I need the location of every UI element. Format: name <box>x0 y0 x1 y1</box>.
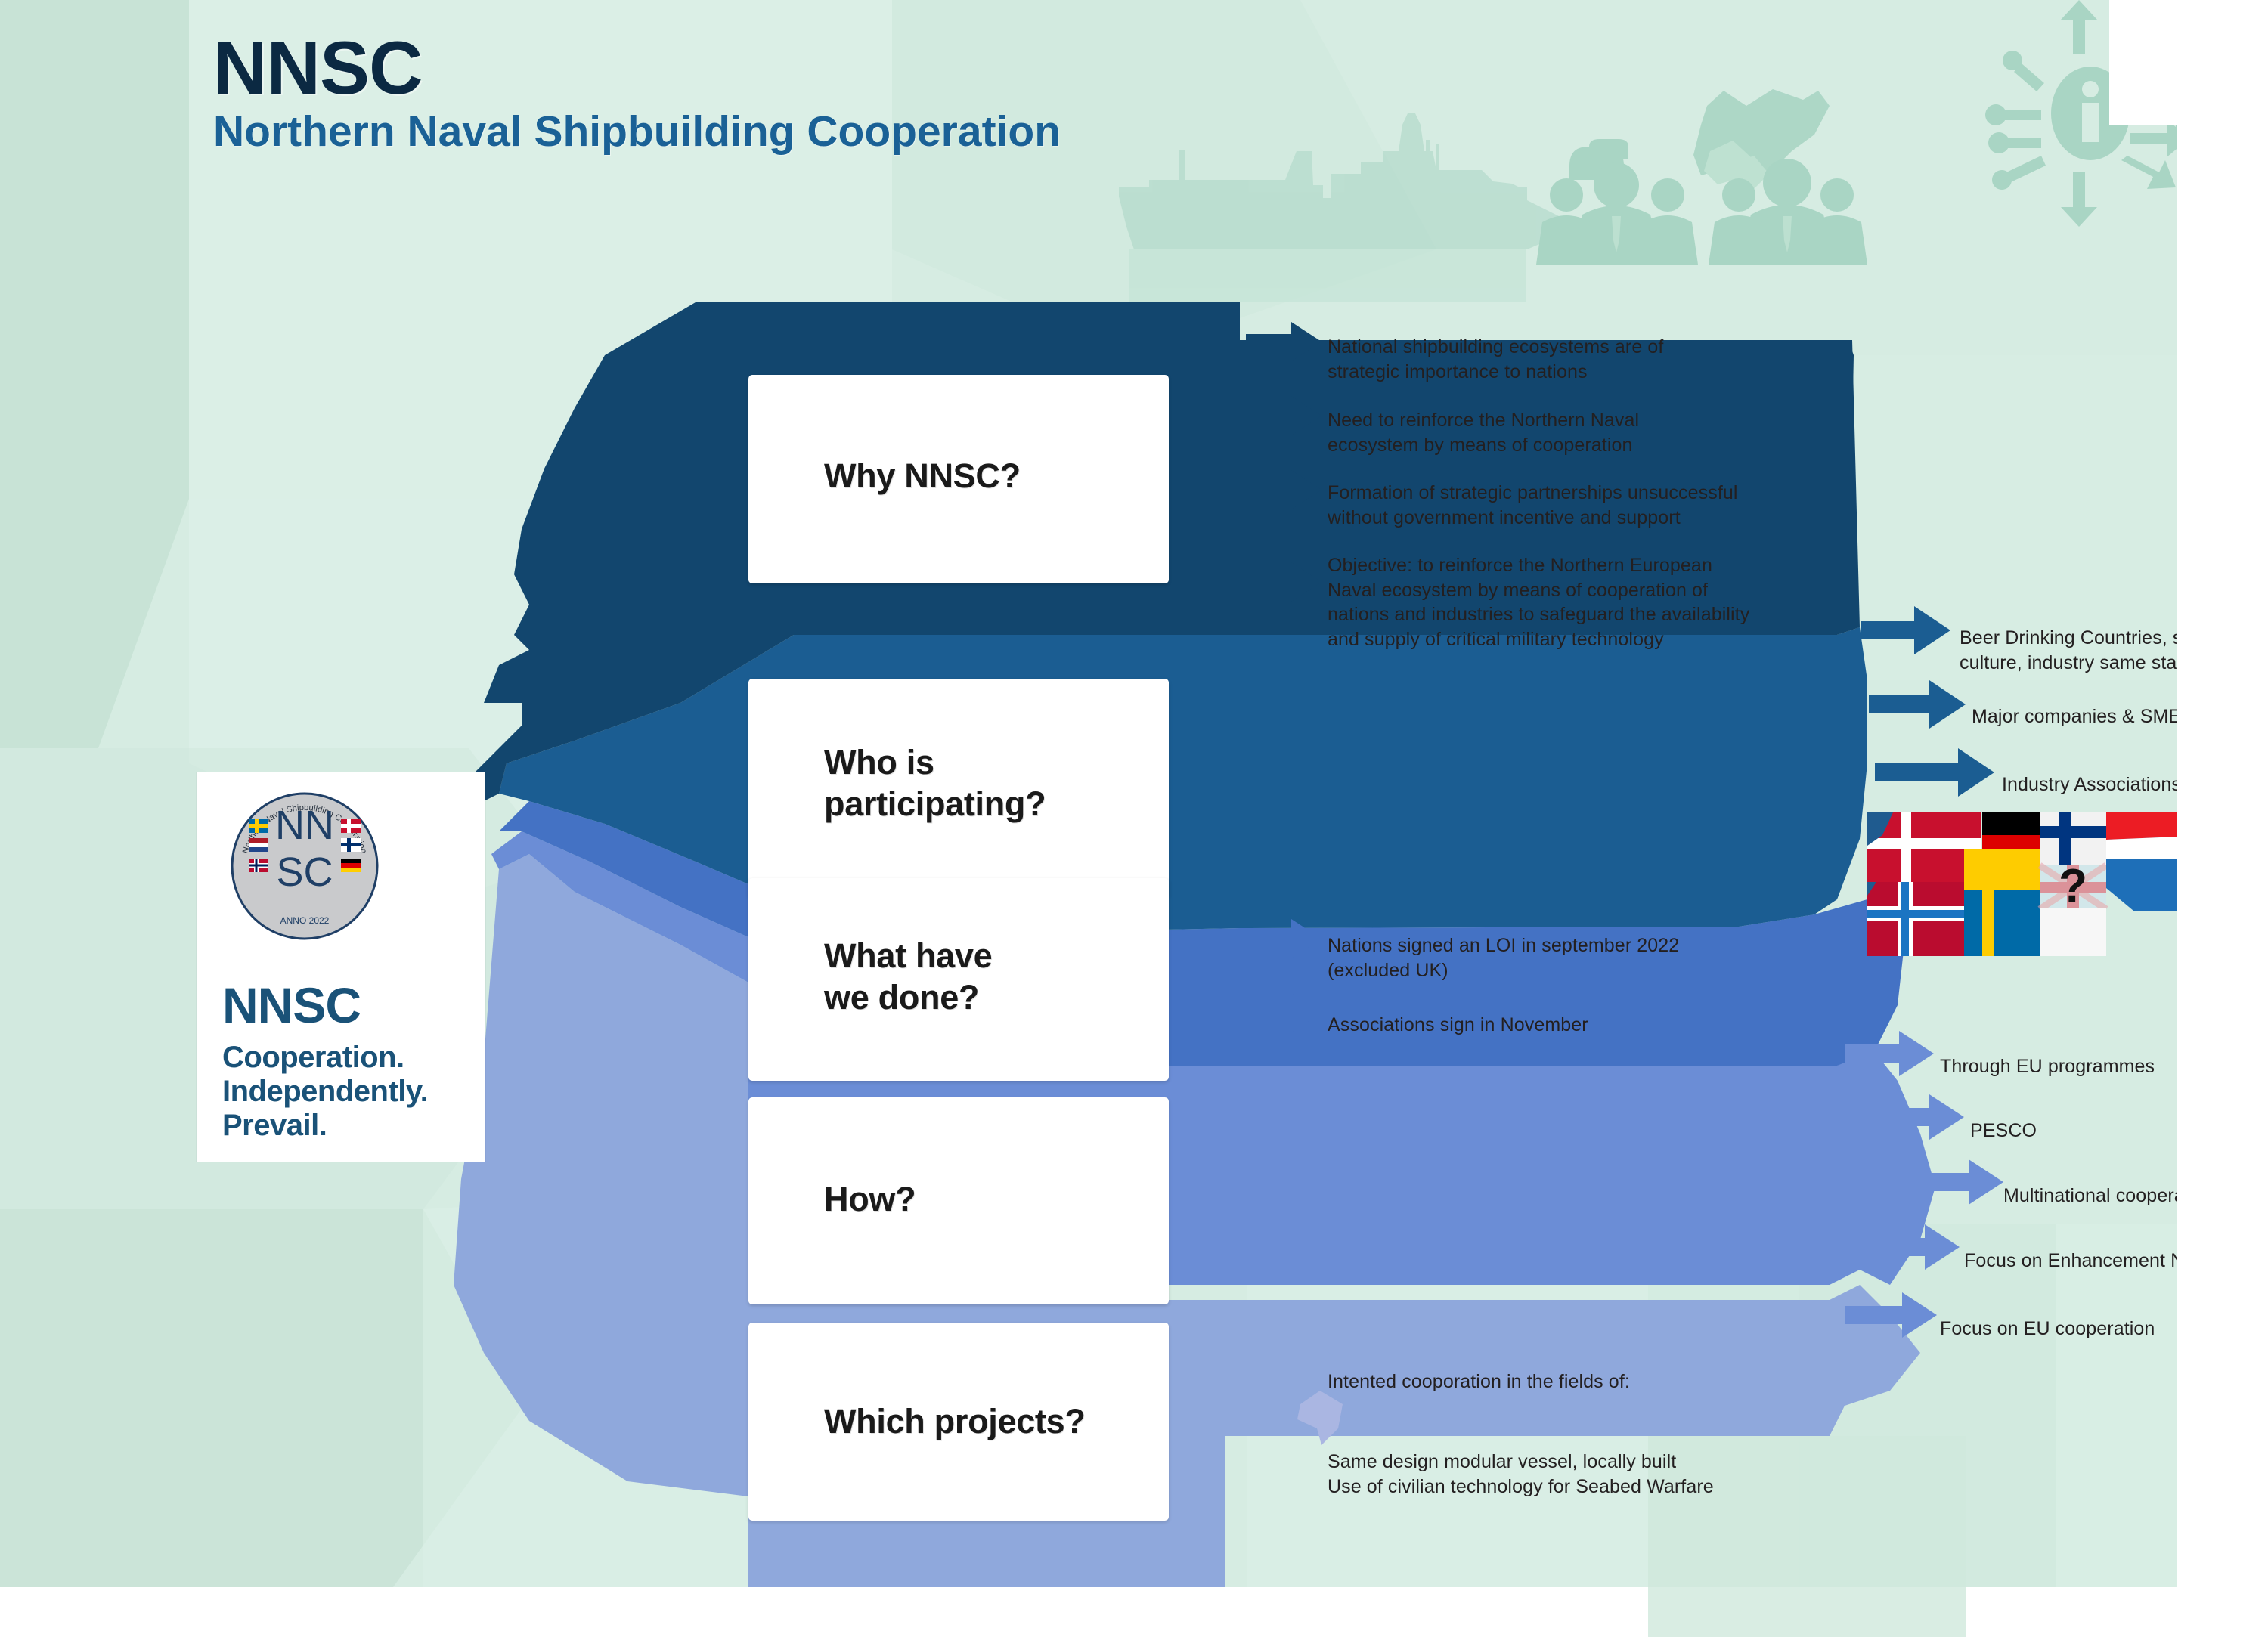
flag-finland-icon <box>2040 812 2106 865</box>
seal-flag-netherlands-icon <box>249 838 268 852</box>
bullet-done-1: Nations signed an LOI in september 2022 … <box>1328 933 1781 983</box>
bullet-why-3: Formation of strategic partnerships unsu… <box>1328 481 1781 530</box>
question-label-who: Who is participating? <box>824 742 1046 825</box>
page-margin-bottom-right <box>1966 1587 2268 1637</box>
logo-card: Northern Naval Shipbuilding Cooperation … <box>197 772 485 1162</box>
page-margin-right <box>2177 0 2268 1637</box>
seal-flag-germany-icon <box>341 859 361 872</box>
bullet-arrow-who-1 <box>1861 606 1950 654</box>
seal-letters-top: NN <box>275 803 334 848</box>
seal-flag-finland-icon <box>341 838 361 852</box>
bullet-arrow-who-3 <box>1875 748 1994 797</box>
bullet-arrow-who-2 <box>1869 680 1966 729</box>
bullet-projects-1: Intented cooporation in the fields of: <box>1328 1369 1781 1394</box>
question-label-projects: Which projects? <box>824 1401 1086 1443</box>
flag-uk-question-mark: ? <box>2059 860 2087 912</box>
bullet-projects-2: Same design modular vessel, locally buil… <box>1328 1450 1857 1499</box>
page-margin-right-upper <box>2109 0 2268 125</box>
infographic-canvas: NNSC Northern Naval Shipbuilding Coopera… <box>0 0 2268 1637</box>
seal-flag-sweden-icon <box>249 819 268 833</box>
bullet-why-2: Need to reinforce the Northern Naval eco… <box>1328 408 1751 457</box>
logo-name: NNSC <box>222 976 361 1034</box>
nnsc-seal-logo: Northern Naval Shipbuilding Cooperation … <box>229 791 380 942</box>
question-box-how[interactable]: How? <box>748 1097 1169 1304</box>
question-box-why[interactable]: Why NNSC? <box>748 375 1169 583</box>
flag-uk-unknown-bg <box>2040 908 2106 956</box>
flag-denmark-icon <box>1867 812 1981 882</box>
logo-tagline: Cooperation. Independently. Prevail. <box>222 1041 472 1142</box>
seal-letters-bottom: SC <box>276 849 333 895</box>
question-label-done: What have we done? <box>824 936 992 1019</box>
question-box-projects[interactable]: Which projects? <box>748 1323 1169 1521</box>
flag-sweden-icon <box>1964 849 2040 956</box>
bullet-why-4: Objective: to reinforce the Northern Eur… <box>1328 553 1781 651</box>
seal-anno: ANNO 2022 <box>280 915 330 926</box>
bullet-why-1: National shipbuilding ecosystems are of … <box>1328 335 1751 384</box>
seal-flag-norway-icon <box>249 859 268 872</box>
seal-flag-denmark-icon <box>341 819 361 833</box>
participant-flags-group: ? <box>1867 812 2215 956</box>
question-box-who[interactable]: Who is participating? <box>748 679 1169 898</box>
page-margin-bottom <box>0 1587 1648 1637</box>
question-box-done[interactable]: What have we done? <box>748 878 1169 1081</box>
flag-norway-icon <box>1867 882 1981 956</box>
question-label-why: Why NNSC? <box>824 456 1021 497</box>
bullet-done-2: Associations sign in November <box>1328 1013 1781 1038</box>
question-label-how: How? <box>824 1179 916 1221</box>
